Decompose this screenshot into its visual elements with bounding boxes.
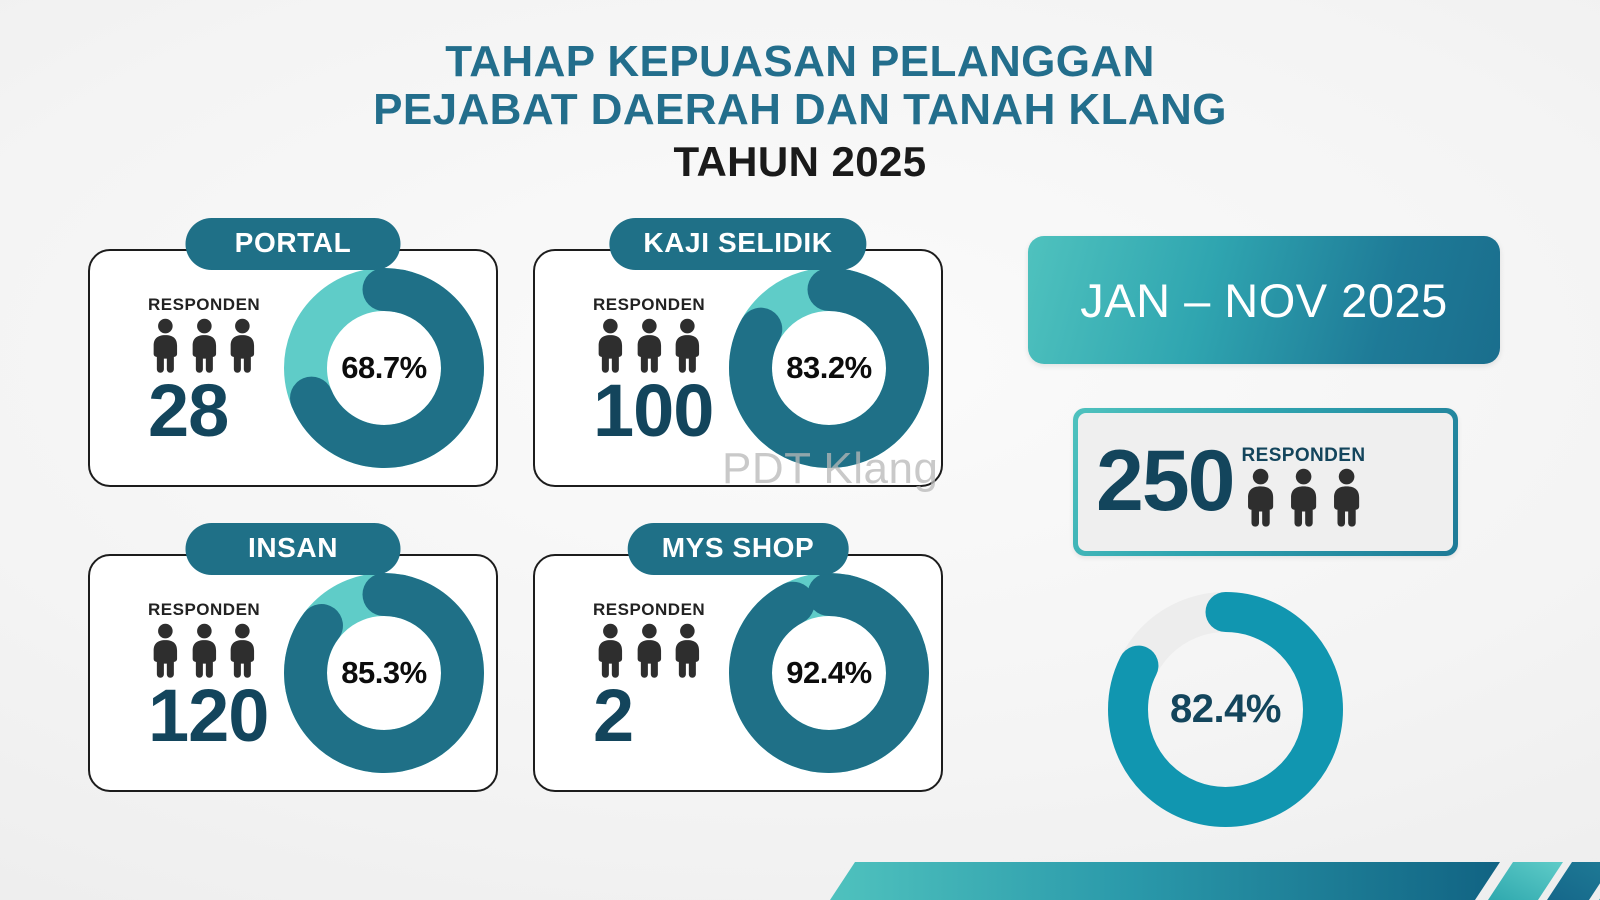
card-responden-label: RESPONDEN <box>148 295 284 315</box>
person-icon <box>1285 468 1322 528</box>
summary-panel: JAN – NOV 2025 250 RESPONDEN 82.4% <box>1028 236 1518 827</box>
person-icon <box>225 318 260 374</box>
date-range-label: JAN – NOV 2025 <box>1080 273 1448 328</box>
card-donut: 83.2% <box>729 268 929 468</box>
people-group-icon <box>593 318 729 374</box>
card-donut: 68.7% <box>284 268 484 468</box>
metric-card-insan[interactable]: INSANRESPONDEN12085.3% <box>88 554 498 792</box>
person-icon <box>148 318 183 374</box>
card-percent-label: 92.4% <box>729 573 929 773</box>
person-icon <box>225 623 260 679</box>
card-responden-label: RESPONDEN <box>593 295 729 315</box>
person-icon <box>148 623 183 679</box>
people-group-icon <box>148 623 284 679</box>
people-group-icon <box>148 318 284 374</box>
person-icon <box>670 623 705 679</box>
overall-percent-label: 82.4% <box>1108 592 1343 827</box>
metric-card-kaji-selidik[interactable]: KAJI SELIDIKRESPONDEN10083.2% <box>533 249 943 487</box>
page-title: TAHAP KEPUASAN PELANGGAN PEJABAT DAERAH … <box>0 38 1600 184</box>
card-responden-count: 28 <box>148 376 284 446</box>
title-line-3: TAHUN 2025 <box>0 139 1600 184</box>
card-percent-label: 83.2% <box>729 268 929 468</box>
total-responden-count: 250 <box>1096 443 1234 520</box>
person-icon <box>593 623 628 679</box>
person-icon <box>632 318 667 374</box>
person-icon <box>1328 468 1365 528</box>
metric-card-portal[interactable]: PORTALRESPONDEN2868.7% <box>88 249 498 487</box>
date-range-banner: JAN – NOV 2025 <box>1028 236 1500 364</box>
bottom-decoration <box>0 820 1600 900</box>
card-responden-label: RESPONDEN <box>148 600 284 620</box>
person-icon <box>1242 468 1279 528</box>
card-percent-label: 85.3% <box>284 573 484 773</box>
card-responden-block: RESPONDEN2 <box>541 594 729 751</box>
card-donut-block: 85.3% <box>284 573 484 773</box>
card-donut-block: 92.4% <box>729 573 929 773</box>
card-responden-block: RESPONDEN100 <box>541 289 729 446</box>
card-title-pill: INSAN <box>186 523 401 575</box>
person-icon <box>187 623 222 679</box>
person-icon <box>187 318 222 374</box>
title-line-2: PEJABAT DAERAH DAN TANAH KLANG <box>0 86 1600 134</box>
card-donut-block: 68.7% <box>284 268 484 468</box>
card-responden-count: 2 <box>593 681 729 751</box>
card-title-pill: PORTAL <box>186 218 401 270</box>
card-title-pill: MYS SHOP <box>628 523 849 575</box>
card-donut: 92.4% <box>729 573 929 773</box>
card-responden-count: 100 <box>593 376 729 446</box>
title-line-1: TAHAP KEPUASAN PELANGGAN <box>0 38 1600 86</box>
card-responden-block: RESPONDEN28 <box>96 289 284 446</box>
bottom-stripes-graphic <box>0 820 1600 900</box>
card-responden-block: RESPONDEN120 <box>96 594 284 751</box>
person-icon <box>670 318 705 374</box>
card-title-pill: KAJI SELIDIK <box>609 218 866 270</box>
total-responden-label: RESPONDEN <box>1242 445 1366 467</box>
card-responden-count: 120 <box>148 681 284 751</box>
total-responden-box: 250 RESPONDEN <box>1073 408 1458 556</box>
person-icon <box>593 318 628 374</box>
people-group-icon <box>1242 468 1366 528</box>
metric-card-mys-shop[interactable]: MYS SHOPRESPONDEN292.4% <box>533 554 943 792</box>
card-responden-label: RESPONDEN <box>593 600 729 620</box>
card-percent-label: 68.7% <box>284 268 484 468</box>
people-group-icon <box>593 623 729 679</box>
card-donut-block: 83.2% <box>729 268 929 468</box>
person-icon <box>632 623 667 679</box>
overall-satisfaction-donut: 82.4% <box>1108 592 1343 827</box>
card-donut: 85.3% <box>284 573 484 773</box>
